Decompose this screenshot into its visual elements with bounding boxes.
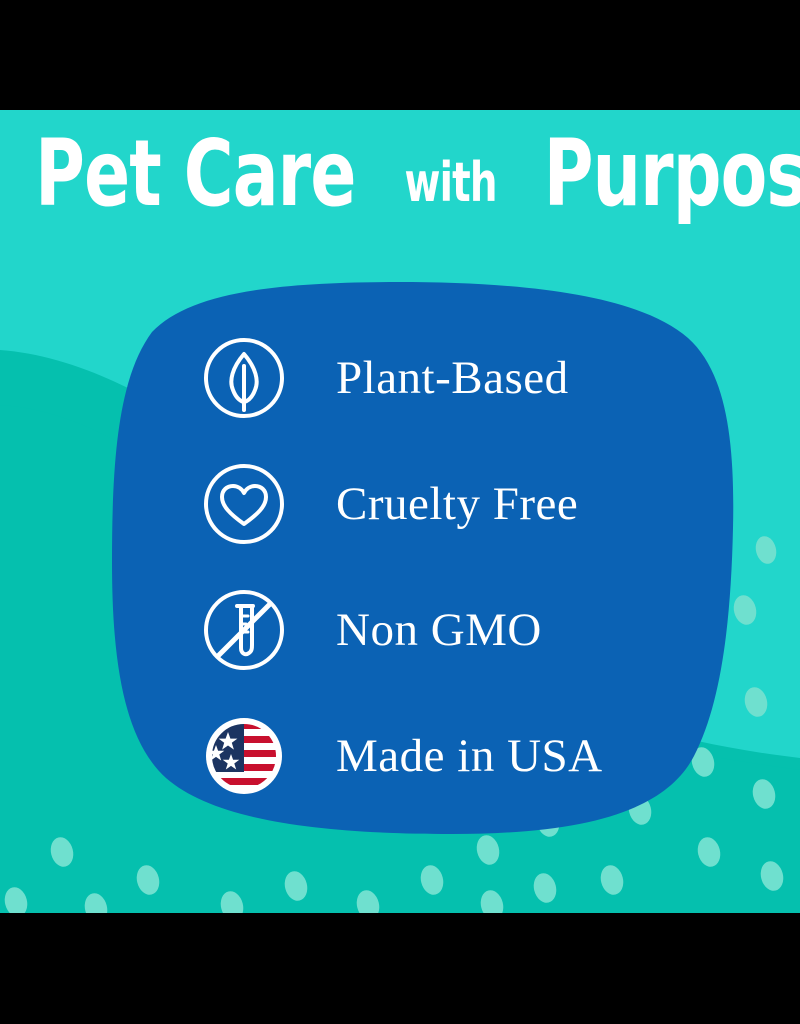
feature-label-cruelty-free: Cruelty Free xyxy=(336,481,578,528)
feature-label-non-gmo: Non GMO xyxy=(336,607,542,654)
feature-row-cruelty-free[interactable]: Cruelty Free xyxy=(200,441,603,567)
heart-icon xyxy=(200,460,288,548)
feature-list: Plant-Based Cruelty Free Non G xyxy=(200,315,603,819)
artboard: Pet CarewithPurpose® Plant-Based Cruelty… xyxy=(0,110,800,913)
headline-part-2: with xyxy=(404,156,496,210)
no-gmo-test-tube-icon xyxy=(200,586,288,674)
feature-row-non-gmo[interactable]: Non GMO xyxy=(200,567,603,693)
letterbox-bar-top xyxy=(0,0,800,110)
headline-part-3: Purpose xyxy=(544,128,800,220)
usa-flag-icon xyxy=(200,712,288,800)
letterbox-bar-bottom xyxy=(0,913,800,1024)
feature-row-made-in-usa[interactable]: Made in USA xyxy=(200,693,603,819)
headline: Pet CarewithPurpose® xyxy=(0,128,800,220)
feature-label-made-in-usa: Made in USA xyxy=(336,733,603,780)
feature-label-plant-based: Plant-Based xyxy=(336,355,569,402)
poster-canvas: Pet CarewithPurpose® Plant-Based Cruelty… xyxy=(0,0,800,1024)
feature-row-plant-based[interactable]: Plant-Based xyxy=(200,315,603,441)
leaf-icon xyxy=(200,334,288,422)
headline-part-1: Pet Care xyxy=(35,128,355,220)
